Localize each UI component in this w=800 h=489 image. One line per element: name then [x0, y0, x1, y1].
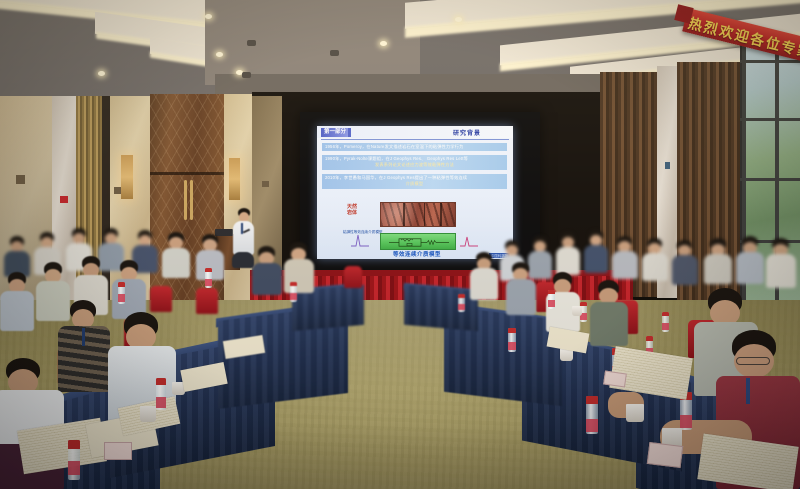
- water-bottle: [586, 396, 598, 434]
- ceiling-downlight: [205, 14, 212, 19]
- slide-divider: [321, 139, 509, 140]
- slide-bullet-line: 2010年，李世愚和马国华，在J Geophys Res提出了一种粘弹性等效连续: [325, 175, 467, 180]
- slide-bullet: 2010年，李世愚和马国华，在J Geophys Res提出了一种粘弹性等效连续…: [322, 174, 507, 189]
- ceiling-downlight: [216, 52, 223, 57]
- attendee: [704, 238, 732, 284]
- attendee: [470, 252, 498, 300]
- attendee: [672, 240, 698, 284]
- window-mullion: [740, 178, 800, 181]
- exit-sign: [60, 196, 68, 203]
- attendee: [284, 242, 314, 292]
- water-bottle: [68, 440, 80, 480]
- water-bottle: [508, 328, 516, 352]
- slide-section-chip: 第一部分: [321, 128, 349, 137]
- lanyard: [82, 328, 85, 346]
- wall-plate: [114, 187, 121, 194]
- attendee: [252, 246, 282, 294]
- water-bottle: [290, 282, 297, 302]
- window-mullion: [740, 60, 800, 63]
- diagram-caption: 等效连续介质模型: [357, 250, 477, 258]
- attendee: [736, 236, 764, 284]
- attendee: [162, 232, 190, 278]
- paper-cup: [140, 406, 156, 422]
- ceiling-speaker-icon: [242, 72, 251, 78]
- presentation-slide: 第一部分 研究背景 1956年，Pomeroy，在Nature发文描述岩石在室温…: [317, 126, 513, 259]
- paper-cup: [572, 306, 582, 316]
- wall-sconce: [121, 155, 133, 199]
- slide-bullet-line: 发表系列论文论述应力波等效粘弹性方法: [325, 162, 504, 168]
- slide-bullet-line: 介质模型: [325, 181, 504, 187]
- ceiling-downlight: [380, 41, 387, 46]
- window-mullion: [740, 118, 800, 121]
- paper-cup: [626, 404, 644, 422]
- equivalent-medium-model-box: [380, 233, 456, 250]
- output-waveform-icon: [460, 233, 478, 247]
- lanyard: [746, 378, 750, 404]
- wall-plate: [262, 181, 269, 187]
- rock-specimen-photo: [380, 202, 456, 227]
- slide-bullet-line: 1990年，Pyrak-Nolte课题组，在J Geophys Res、 Geo…: [325, 156, 468, 161]
- wall-sconce: [229, 158, 240, 200]
- input-waveform-icon: [351, 233, 369, 247]
- attendee: [556, 232, 580, 274]
- eyeglasses-icon: [736, 357, 770, 365]
- slide-chip-accent: [348, 128, 351, 137]
- water-bottle: [662, 312, 669, 332]
- ceiling-speaker-icon: [330, 50, 339, 56]
- photo-label-line2: 岩体: [347, 210, 357, 216]
- attendee: [766, 238, 796, 288]
- slide-bullet: 1990年，Pyrak-Nolte课题组，在J Geophys Res、 Geo…: [322, 155, 507, 170]
- chair: [344, 266, 362, 288]
- water-bottle: [156, 378, 166, 410]
- water-bottle: [118, 282, 125, 304]
- attendee: [0, 272, 34, 330]
- attendee: [506, 262, 536, 314]
- spring-dashpot-circuit-icon: [389, 238, 449, 247]
- name-card: [104, 442, 132, 460]
- attendee: [642, 238, 668, 280]
- attendee: [584, 230, 608, 272]
- water-bottle: [548, 290, 555, 309]
- attendee: [58, 300, 110, 392]
- wall-plate: [665, 162, 670, 169]
- attendee: [612, 236, 638, 278]
- attendee: [4, 236, 30, 276]
- table-cloth: [404, 285, 478, 331]
- chair: [196, 288, 218, 314]
- slide-bullet: 1956年，Pomeroy，在Nature发文描述岩石在室温下的粘弹性力学行为: [322, 143, 507, 151]
- name-card: [647, 442, 683, 468]
- attendee: [590, 280, 628, 344]
- slide-title: 研究背景: [453, 128, 481, 137]
- water-bottle: [205, 268, 212, 288]
- ceiling-speaker-icon: [247, 40, 256, 46]
- wall-plate: [16, 175, 25, 184]
- chair: [150, 286, 172, 312]
- photo-label: 天然 岩体: [347, 204, 357, 216]
- slide-bullet-line: 1956年，Pomeroy，在Nature发文描述岩石在室温下的粘弹性力学行为: [325, 144, 464, 149]
- conference-room-photo: 热烈欢迎各位专家 第一部分 研究背景 1956年，Pomeroy，在Nature…: [0, 0, 800, 489]
- water-bottle: [458, 294, 465, 312]
- ceiling-downlight: [455, 17, 462, 22]
- name-card: [603, 371, 627, 388]
- ceiling-downlight: [98, 71, 105, 76]
